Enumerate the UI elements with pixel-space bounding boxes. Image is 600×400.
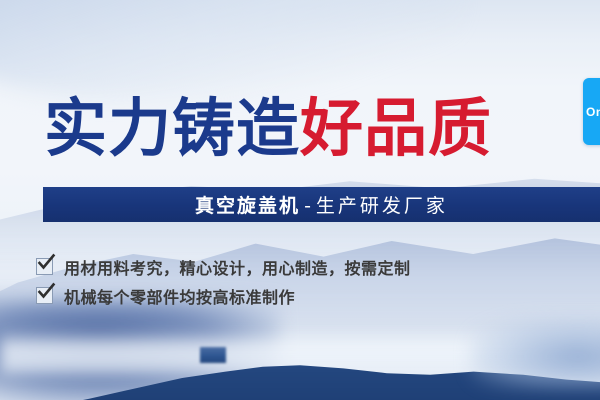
background-hill-right (470, 318, 600, 388)
banner-separator: - (300, 195, 316, 217)
product-banner: 真空旋盖机-生产研发厂家 (43, 187, 600, 222)
headline-part-red: 好品质 (300, 97, 492, 160)
checkbox-checked-icon (36, 258, 53, 275)
banner-tagline: 生产研发厂家 (316, 195, 448, 217)
promotional-banner: 实力铸造 好品质 真空旋盖机-生产研发厂家 用材用料考究，精心设计，用心制造，按… (0, 0, 600, 400)
feature-text: 机械每个零部件均按高标准制作 (64, 284, 295, 308)
list-item: 机械每个零部件均按高标准制作 (36, 281, 576, 310)
headline-part-blue: 实力铸造 (44, 97, 300, 160)
headline: 实力铸造 好品质 (44, 88, 564, 168)
feature-list: 用材用料考究，精心设计，用心制造，按需定制 机械每个零部件均按高标准制作 (36, 252, 576, 310)
online-chat-tab[interactable]: On (583, 78, 600, 145)
product-banner-text: 真空旋盖机-生产研发厂家 (195, 191, 448, 218)
product-name: 真空旋盖机 (195, 195, 300, 217)
online-chat-tab-label: On (586, 105, 600, 119)
checkbox-checked-icon (36, 287, 53, 304)
background-tower (200, 347, 226, 363)
list-item: 用材用料考究，精心设计，用心制造，按需定制 (36, 252, 576, 281)
feature-text: 用材用料考究，精心设计，用心制造，按需定制 (64, 255, 411, 279)
